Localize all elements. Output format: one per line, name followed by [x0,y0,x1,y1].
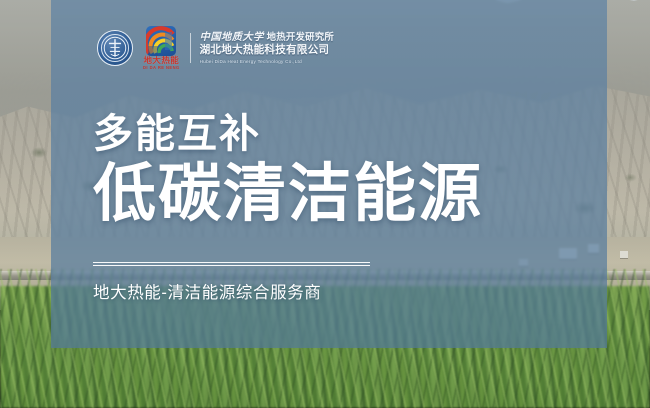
rule-line-bottom [93,265,370,266]
university-seal-icon [97,30,133,66]
brand-name-cn: 地大热能 [144,56,180,65]
company-brand-block: 地大热能 DI DA RE NENG [143,26,180,70]
org-university-name: 中国地质大学 [200,32,264,43]
org-line-2: 湖北地大热能科技有限公司 [200,44,334,57]
seal-glyph-icon [98,31,132,65]
logo-divider [190,33,191,63]
rainbow-arc-glyph-icon [146,26,176,56]
org-institute-name: 地热开发研究所 [267,31,334,42]
logo-lockup: 地大热能 DI DA RE NENG 中国地质大学 地热开发研究所 湖北地大热能… [97,26,334,70]
hero-heading: 低碳清洁能源 [93,159,483,230]
brand-name-pinyin: DI DA RE NENG [143,66,180,70]
org-line-3-english: Hubei DiDa Heat Energy Technology Co.,Lt… [200,59,334,66]
hero-tagline: 地大热能-清洁能源综合服务商 [93,279,321,303]
org-line-1: 中国地质大学 地热开发研究所 [200,31,334,44]
rainbow-mark-icon [146,26,176,56]
hero-divider-rule [93,262,370,266]
promo-banner: 地大热能 DI DA RE NENG 中国地质大学 地热开发研究所 湖北地大热能… [0,0,650,408]
rule-line-top [93,262,370,263]
hero-headings: 多能互补 低碳清洁能源 [93,112,483,229]
hero-subheading: 多能互补 [93,112,483,157]
organization-text: 中国地质大学 地热开发研究所 湖北地大热能科技有限公司 Hubei DiDa H… [200,31,334,66]
